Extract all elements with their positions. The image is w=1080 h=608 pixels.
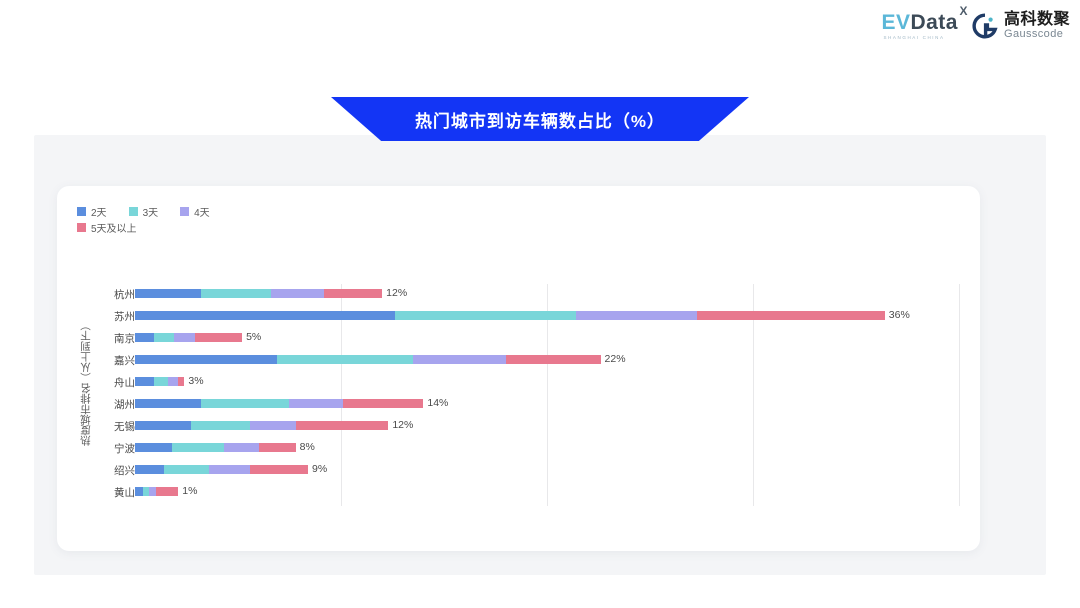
bar-segment[interactable] bbox=[135, 443, 172, 452]
chart-bar-row[interactable]: 宁波8% bbox=[57, 438, 980, 460]
bar-segment[interactable] bbox=[576, 311, 698, 320]
category-label: 杭州 bbox=[75, 284, 135, 306]
bar-segment[interactable] bbox=[395, 311, 576, 320]
evdata-superscript-x: X bbox=[959, 5, 968, 17]
bar-value-label: 1% bbox=[182, 487, 197, 496]
bar-segment[interactable] bbox=[178, 377, 184, 386]
chart-bar-row[interactable]: 湖州14% bbox=[57, 394, 980, 416]
category-label: 舟山 bbox=[75, 372, 135, 394]
chart-card: 2天3天4天5天及以上 热度城市排名（从上到下） 杭州12%苏州36%南京5%嘉… bbox=[57, 186, 980, 551]
stacked-bar[interactable]: 1% bbox=[135, 487, 197, 496]
bar-segment[interactable] bbox=[289, 399, 343, 408]
category-label: 湖州 bbox=[75, 394, 135, 416]
bar-segment[interactable] bbox=[201, 399, 290, 408]
bar-segment[interactable] bbox=[135, 399, 201, 408]
bar-segment[interactable] bbox=[135, 355, 277, 364]
bar-segment[interactable] bbox=[154, 333, 175, 342]
bar-segment[interactable] bbox=[343, 399, 423, 408]
bar-segment[interactable] bbox=[135, 289, 201, 298]
bar-value-label: 3% bbox=[188, 377, 203, 386]
category-label: 南京 bbox=[75, 328, 135, 350]
bar-value-label: 36% bbox=[889, 311, 910, 320]
stacked-bar[interactable]: 5% bbox=[135, 333, 261, 342]
bar-segment[interactable] bbox=[135, 465, 164, 474]
bar-value-label: 5% bbox=[246, 333, 261, 342]
bar-segment[interactable] bbox=[201, 289, 271, 298]
bar-value-label: 8% bbox=[300, 443, 315, 452]
page-title: 热门城市到访车辆数占比（%） bbox=[331, 97, 749, 141]
bar-segment[interactable] bbox=[277, 355, 413, 364]
bar-segment[interactable] bbox=[697, 311, 884, 320]
bar-segment[interactable] bbox=[164, 465, 209, 474]
gausscode-cn-text: 高科数聚 bbox=[1004, 12, 1070, 29]
chart-bar-row[interactable]: 绍兴9% bbox=[57, 460, 980, 482]
chart-bar-rows: 杭州12%苏州36%南京5%嘉兴22%舟山3%湖州14%无锡12%宁波8%绍兴9… bbox=[57, 284, 980, 504]
category-label: 苏州 bbox=[75, 306, 135, 328]
category-label: 无锡 bbox=[75, 416, 135, 438]
evdata-wordmark: EVData X bbox=[881, 12, 958, 33]
bar-segment[interactable] bbox=[191, 421, 251, 430]
chart-bar-row[interactable]: 无锡12% bbox=[57, 416, 980, 438]
bar-segment[interactable] bbox=[209, 465, 250, 474]
category-label: 嘉兴 bbox=[75, 350, 135, 372]
bar-segment[interactable] bbox=[135, 487, 143, 496]
bar-segment[interactable] bbox=[506, 355, 601, 364]
stacked-bar[interactable]: 9% bbox=[135, 465, 327, 474]
bar-segment[interactable] bbox=[413, 355, 506, 364]
brand-logo-bar: EVData X SHANGHAI CHINA 高科数聚 Gausscode bbox=[881, 12, 1070, 41]
chart-bar-row[interactable]: 黄山1% bbox=[57, 482, 980, 504]
g-logo-icon bbox=[972, 13, 998, 39]
stacked-bar[interactable]: 3% bbox=[135, 377, 204, 386]
stacked-bar[interactable]: 8% bbox=[135, 443, 315, 452]
bar-segment[interactable] bbox=[271, 289, 325, 298]
bar-segment[interactable] bbox=[224, 443, 259, 452]
bar-segment[interactable] bbox=[174, 333, 195, 342]
bar-segment[interactable] bbox=[168, 377, 178, 386]
gausscode-logo: 高科数聚 Gausscode bbox=[972, 12, 1070, 40]
bar-segment[interactable] bbox=[135, 311, 395, 320]
chart-bar-row[interactable]: 南京5% bbox=[57, 328, 980, 350]
category-label: 宁波 bbox=[75, 438, 135, 460]
bar-segment[interactable] bbox=[154, 377, 168, 386]
evdata-ev-text: EV bbox=[881, 11, 910, 34]
bar-value-label: 14% bbox=[427, 399, 448, 408]
stacked-bar[interactable]: 12% bbox=[135, 289, 407, 298]
stacked-bar[interactable]: 36% bbox=[135, 311, 910, 320]
bar-value-label: 12% bbox=[392, 421, 413, 430]
bar-segment[interactable] bbox=[250, 421, 295, 430]
bar-segment[interactable] bbox=[135, 333, 154, 342]
category-label: 绍兴 bbox=[75, 460, 135, 482]
evdata-data-text: Data bbox=[910, 11, 958, 34]
bar-segment[interactable] bbox=[259, 443, 296, 452]
gausscode-wordmark: 高科数聚 Gausscode bbox=[1004, 12, 1070, 40]
bar-segment[interactable] bbox=[250, 465, 308, 474]
gausscode-en-text: Gausscode bbox=[1004, 29, 1070, 41]
bar-segment[interactable] bbox=[135, 421, 191, 430]
bar-segment[interactable] bbox=[195, 333, 242, 342]
category-label: 黄山 bbox=[75, 482, 135, 504]
stacked-bar[interactable]: 22% bbox=[135, 355, 626, 364]
chart-plot-area: 热度城市排名（从上到下） 杭州12%苏州36%南京5%嘉兴22%舟山3%湖州14… bbox=[57, 186, 980, 551]
chart-bar-row[interactable]: 杭州12% bbox=[57, 284, 980, 306]
bar-value-label: 12% bbox=[386, 289, 407, 298]
bar-segment[interactable] bbox=[156, 487, 179, 496]
chart-bar-row[interactable]: 苏州36% bbox=[57, 306, 980, 328]
chart-bar-row[interactable]: 嘉兴22% bbox=[57, 350, 980, 372]
bar-segment[interactable] bbox=[296, 421, 389, 430]
stacked-bar[interactable]: 14% bbox=[135, 399, 448, 408]
evdata-tagline: SHANGHAI CHINA bbox=[883, 36, 944, 41]
bar-value-label: 22% bbox=[605, 355, 626, 364]
bar-segment[interactable] bbox=[324, 289, 382, 298]
chart-bar-row[interactable]: 舟山3% bbox=[57, 372, 980, 394]
bar-segment[interactable] bbox=[135, 377, 154, 386]
stacked-bar[interactable]: 12% bbox=[135, 421, 413, 430]
evdata-logo: EVData X SHANGHAI CHINA bbox=[881, 12, 958, 41]
bar-value-label: 9% bbox=[312, 465, 327, 474]
bar-segment[interactable] bbox=[172, 443, 224, 452]
